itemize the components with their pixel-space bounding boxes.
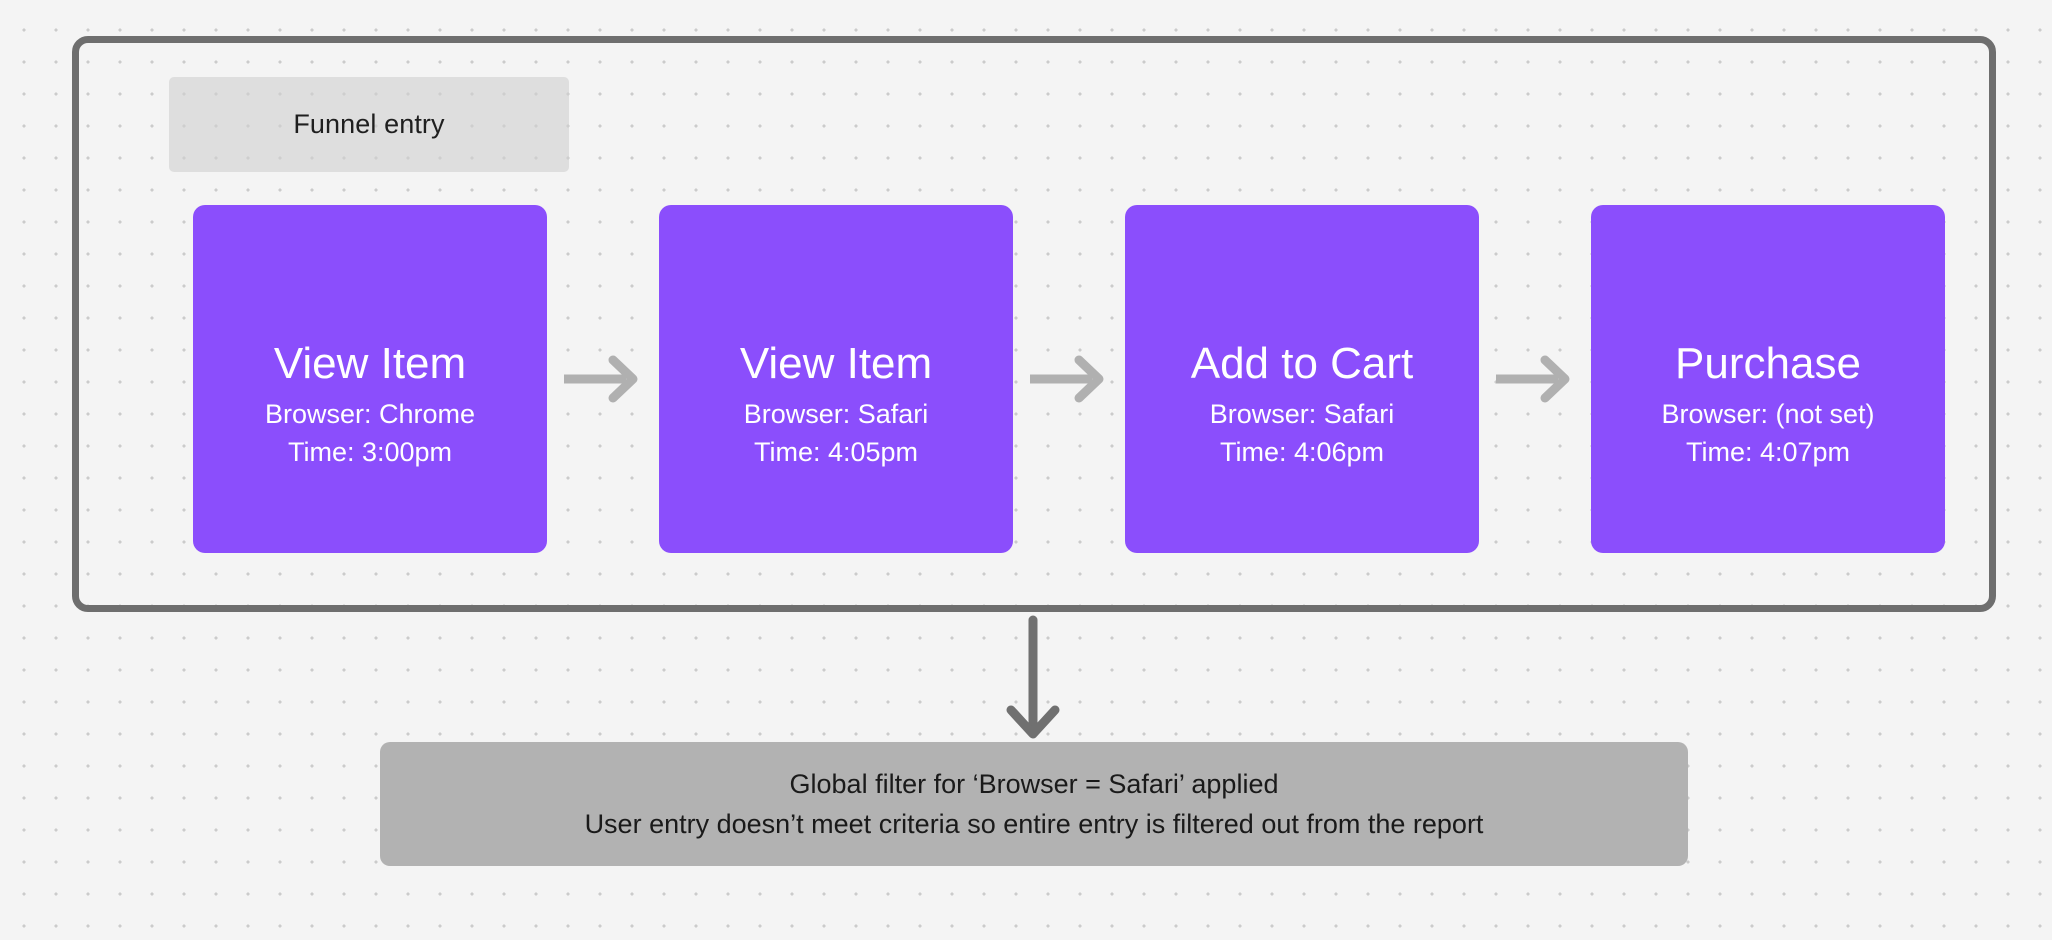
step-time: Time: 4:05pm <box>754 433 918 471</box>
step-time: Time: 4:06pm <box>1220 433 1384 471</box>
step-connector-3 <box>1479 349 1591 409</box>
step-browser: Browser: Safari <box>744 395 929 433</box>
step-connector-1 <box>547 349 659 409</box>
arrow-right-icon <box>1030 353 1108 405</box>
filter-note-line-2: User entry doesn’t meet criteria so enti… <box>585 804 1484 845</box>
step-title: View Item <box>740 341 932 387</box>
funnel-entry-container: Funnel entry View Item Browser: Chrome T… <box>72 36 1996 612</box>
filter-note-line-1: Global filter for ‘Browser = Safari’ app… <box>790 764 1279 805</box>
funnel-step-card-2[interactable]: View Item Browser: Safari Time: 4:05pm <box>659 205 1013 553</box>
step-time: Time: 3:00pm <box>288 433 452 471</box>
funnel-entry-label-text: Funnel entry <box>293 109 444 140</box>
step-browser: Browser: Safari <box>1210 395 1395 433</box>
funnel-steps-row: View Item Browser: Chrome Time: 3:00pm V… <box>193 205 1945 553</box>
step-browser: Browser: Chrome <box>265 395 475 433</box>
arrow-right-icon <box>564 353 642 405</box>
step-connector-2 <box>1013 349 1125 409</box>
arrow-right-icon <box>1496 353 1574 405</box>
step-title: Add to Cart <box>1191 341 1414 387</box>
step-time: Time: 4:07pm <box>1686 433 1850 471</box>
global-filter-note: Global filter for ‘Browser = Safari’ app… <box>380 742 1688 866</box>
step-title: Purchase <box>1675 341 1861 387</box>
step-title: View Item <box>274 341 466 387</box>
funnel-entry-label-box: Funnel entry <box>169 77 569 172</box>
outcome-connector <box>1003 620 1063 742</box>
funnel-step-card-3[interactable]: Add to Cart Browser: Safari Time: 4:06pm <box>1125 205 1479 553</box>
arrow-down-icon <box>1003 620 1063 742</box>
funnel-step-card-1[interactable]: View Item Browser: Chrome Time: 3:00pm <box>193 205 547 553</box>
step-browser: Browser: (not set) <box>1661 395 1874 433</box>
funnel-step-card-4[interactable]: Purchase Browser: (not set) Time: 4:07pm <box>1591 205 1945 553</box>
